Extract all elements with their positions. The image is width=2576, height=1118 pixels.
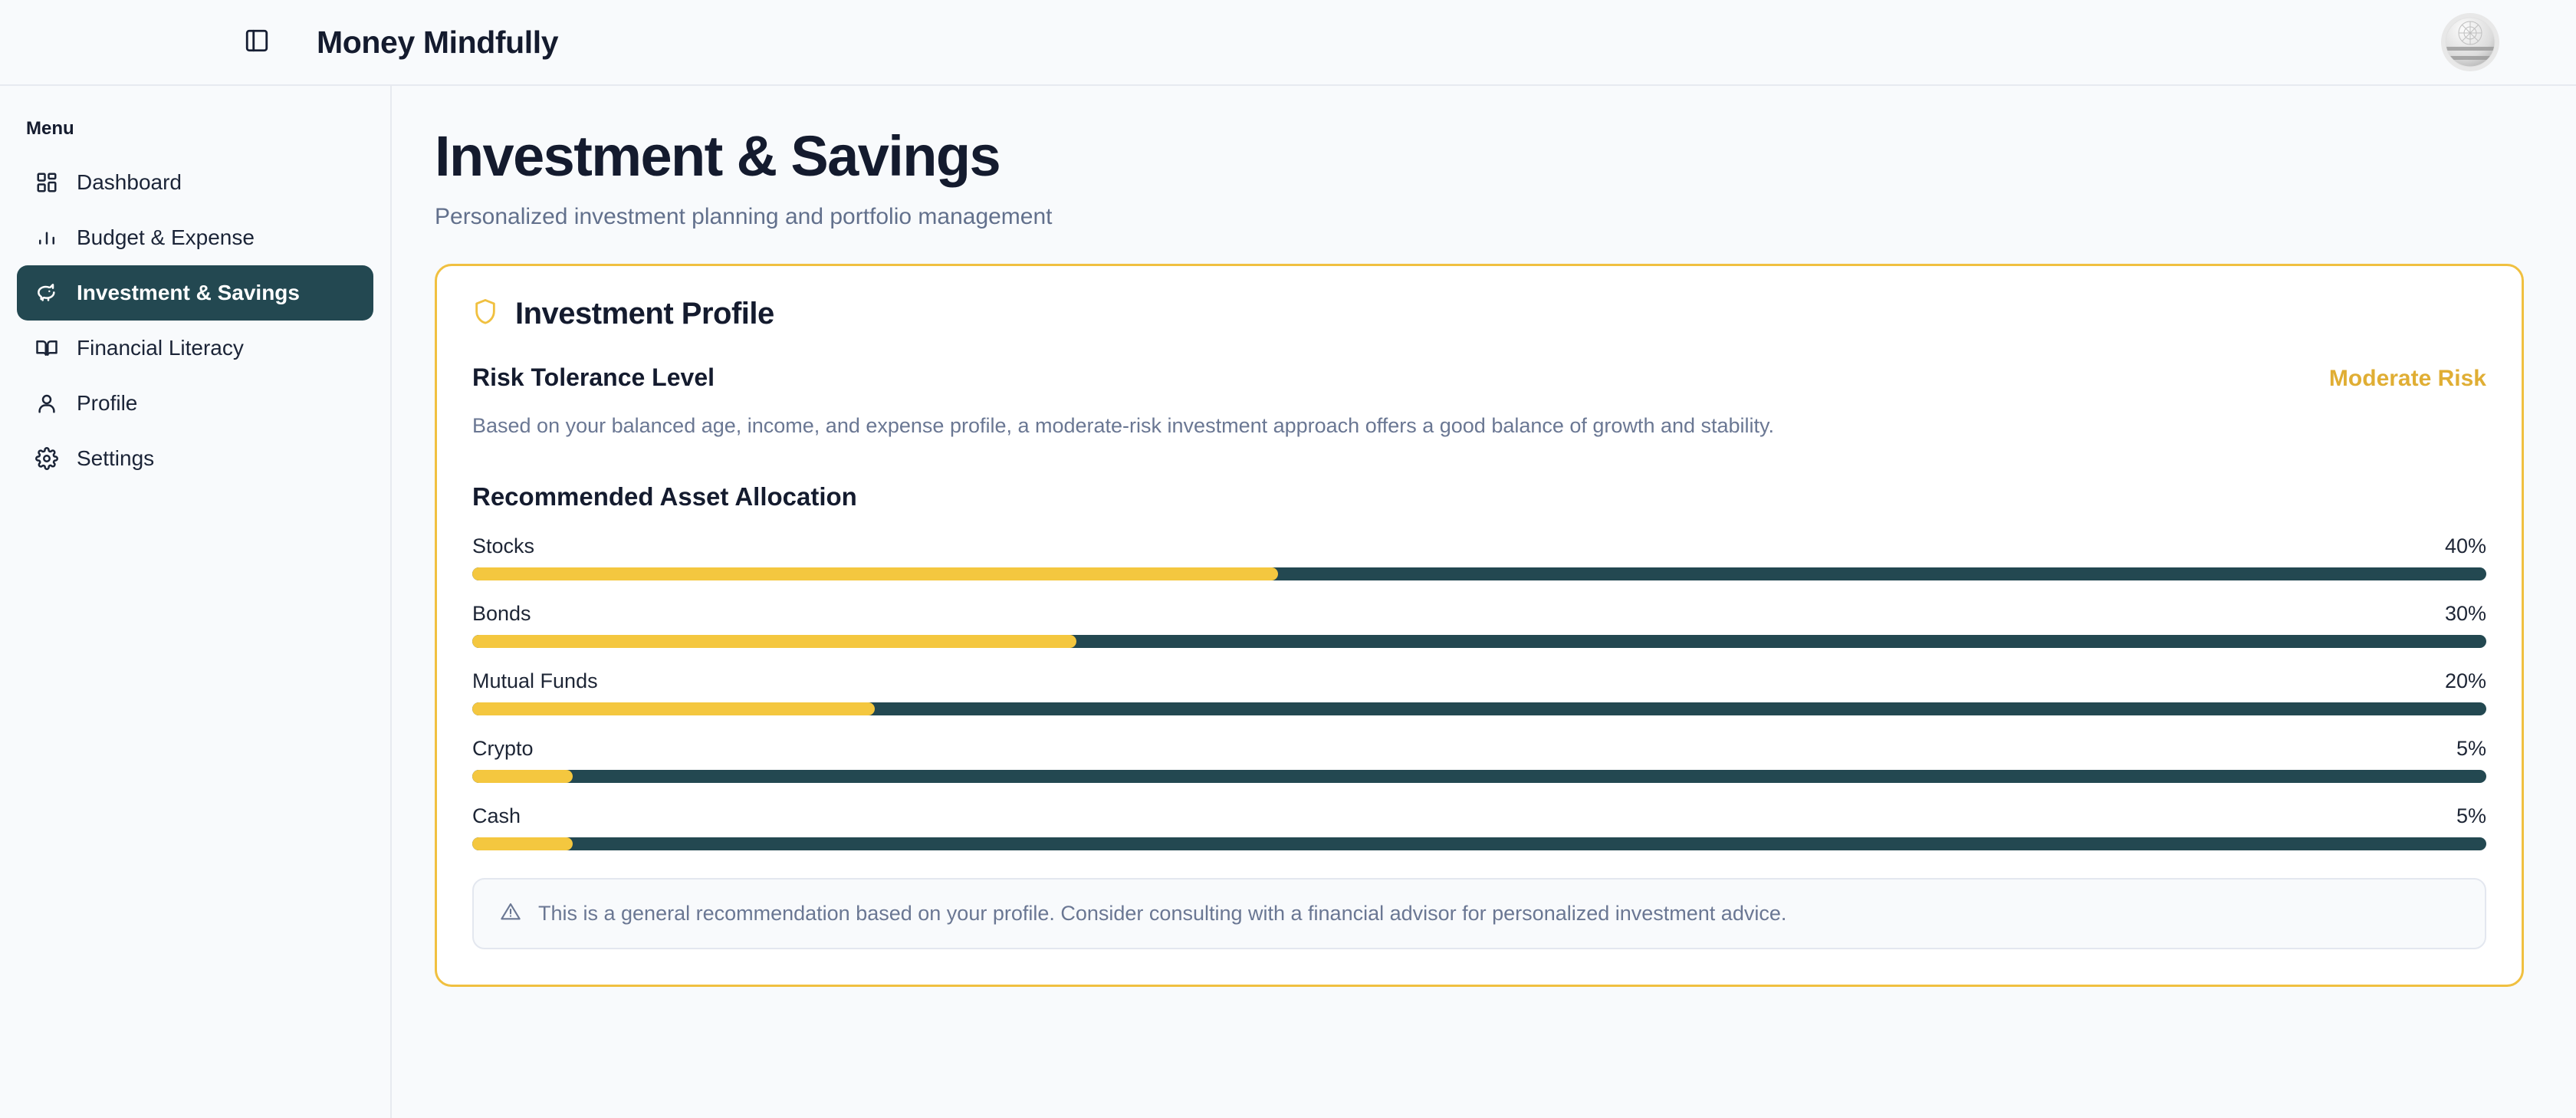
risk-description: Based on your balanced age, income, and …	[472, 411, 2486, 441]
asset-allocation-title: Recommended Asset Allocation	[472, 482, 2486, 511]
sidebar-item-label: Financial Literacy	[77, 336, 244, 360]
allocation-row: Bonds 30%	[472, 602, 2486, 648]
alert-triangle-icon	[500, 901, 521, 926]
sidebar-item-label: Budget & Expense	[77, 225, 255, 250]
sidebar-item-budget-expense[interactable]: Budget & Expense	[17, 210, 373, 265]
book-open-icon	[32, 334, 61, 363]
sidebar-toggle-button[interactable]	[240, 25, 274, 59]
risk-tolerance-row: Risk Tolerance Level Moderate Risk	[472, 363, 2486, 392]
body-row: Menu Dashboard Budget & Expense	[0, 86, 2576, 1118]
sidebar-item-label: Profile	[77, 391, 137, 416]
allocation-progress-track	[472, 770, 2486, 783]
disclaimer-box: This is a general recommendation based o…	[472, 878, 2486, 949]
card-header: Investment Profile	[472, 297, 2486, 331]
allocation-progress-track	[472, 567, 2486, 580]
allocation-row-header: Crypto 5%	[472, 737, 2486, 761]
allocation-asset-percent: 20%	[2445, 669, 2486, 693]
sidebar-item-profile[interactable]: Profile	[17, 376, 373, 431]
allocation-row-header: Stocks 40%	[472, 534, 2486, 558]
allocation-progress-track	[472, 635, 2486, 648]
asset-allocation-list: Stocks 40% Bonds 30%	[472, 534, 2486, 850]
allocation-row: Cash 5%	[472, 804, 2486, 850]
sidebar-item-investment-savings[interactable]: Investment & Savings	[17, 265, 373, 321]
piggy-bank-icon	[32, 278, 61, 307]
allocation-progress-fill	[472, 702, 875, 715]
allocation-asset-percent: 30%	[2445, 602, 2486, 626]
allocation-asset-name: Stocks	[472, 534, 534, 558]
disclaimer-text: This is a general recommendation based o…	[538, 902, 1786, 926]
sidebar-item-label: Dashboard	[77, 170, 182, 195]
allocation-progress-track	[472, 702, 2486, 715]
main-content: Investment & Savings Personalized invest…	[392, 86, 2576, 1118]
user-avatar-image	[2441, 13, 2499, 71]
allocation-progress-fill	[472, 635, 1076, 648]
allocation-asset-name: Cash	[472, 804, 521, 828]
allocation-asset-percent: 5%	[2456, 737, 2486, 761]
gear-icon	[32, 444, 61, 473]
allocation-row: Crypto 5%	[472, 737, 2486, 783]
allocation-row: Stocks 40%	[472, 534, 2486, 580]
sidebar-menu-label: Menu	[17, 110, 373, 155]
allocation-row-header: Mutual Funds 20%	[472, 669, 2486, 693]
sidebar: Menu Dashboard Budget & Expense	[0, 86, 392, 1118]
allocation-row-header: Bonds 30%	[472, 602, 2486, 626]
sidebar-item-dashboard[interactable]: Dashboard	[17, 155, 373, 210]
allocation-row-header: Cash 5%	[472, 804, 2486, 828]
allocation-progress-fill	[472, 567, 1278, 580]
page-title: Investment & Savings	[435, 126, 2524, 187]
sidebar-item-label: Settings	[77, 446, 154, 471]
card-title: Investment Profile	[515, 297, 774, 331]
investment-profile-card: Investment Profile Risk Tolerance Level …	[435, 264, 2524, 987]
app-brand-title: Money Mindfully	[317, 25, 558, 61]
avatar[interactable]	[2441, 13, 2499, 71]
allocation-progress-fill	[472, 837, 573, 850]
allocation-progress-fill	[472, 770, 573, 783]
shield-icon	[472, 298, 498, 330]
risk-tolerance-label: Risk Tolerance Level	[472, 363, 715, 392]
user-icon	[32, 389, 61, 418]
allocation-asset-name: Crypto	[472, 737, 534, 761]
allocation-asset-name: Bonds	[472, 602, 531, 626]
bar-chart-icon	[32, 223, 61, 252]
allocation-asset-name: Mutual Funds	[472, 669, 598, 693]
risk-level-badge: Moderate Risk	[2329, 366, 2486, 392]
sidebar-item-settings[interactable]: Settings	[17, 431, 373, 486]
allocation-asset-percent: 5%	[2456, 804, 2486, 828]
sidebar-item-label: Investment & Savings	[77, 281, 300, 305]
page-subtitle: Personalized investment planning and por…	[435, 204, 2524, 230]
panel-left-icon	[244, 28, 270, 58]
allocation-progress-track	[472, 837, 2486, 850]
grid-icon	[32, 168, 61, 197]
allocation-row: Mutual Funds 20%	[472, 669, 2486, 715]
app-root: Money Mindfully	[0, 0, 2576, 1118]
sidebar-item-financial-literacy[interactable]: Financial Literacy	[17, 321, 373, 376]
top-bar: Money Mindfully	[0, 0, 2576, 86]
allocation-asset-percent: 40%	[2445, 534, 2486, 558]
